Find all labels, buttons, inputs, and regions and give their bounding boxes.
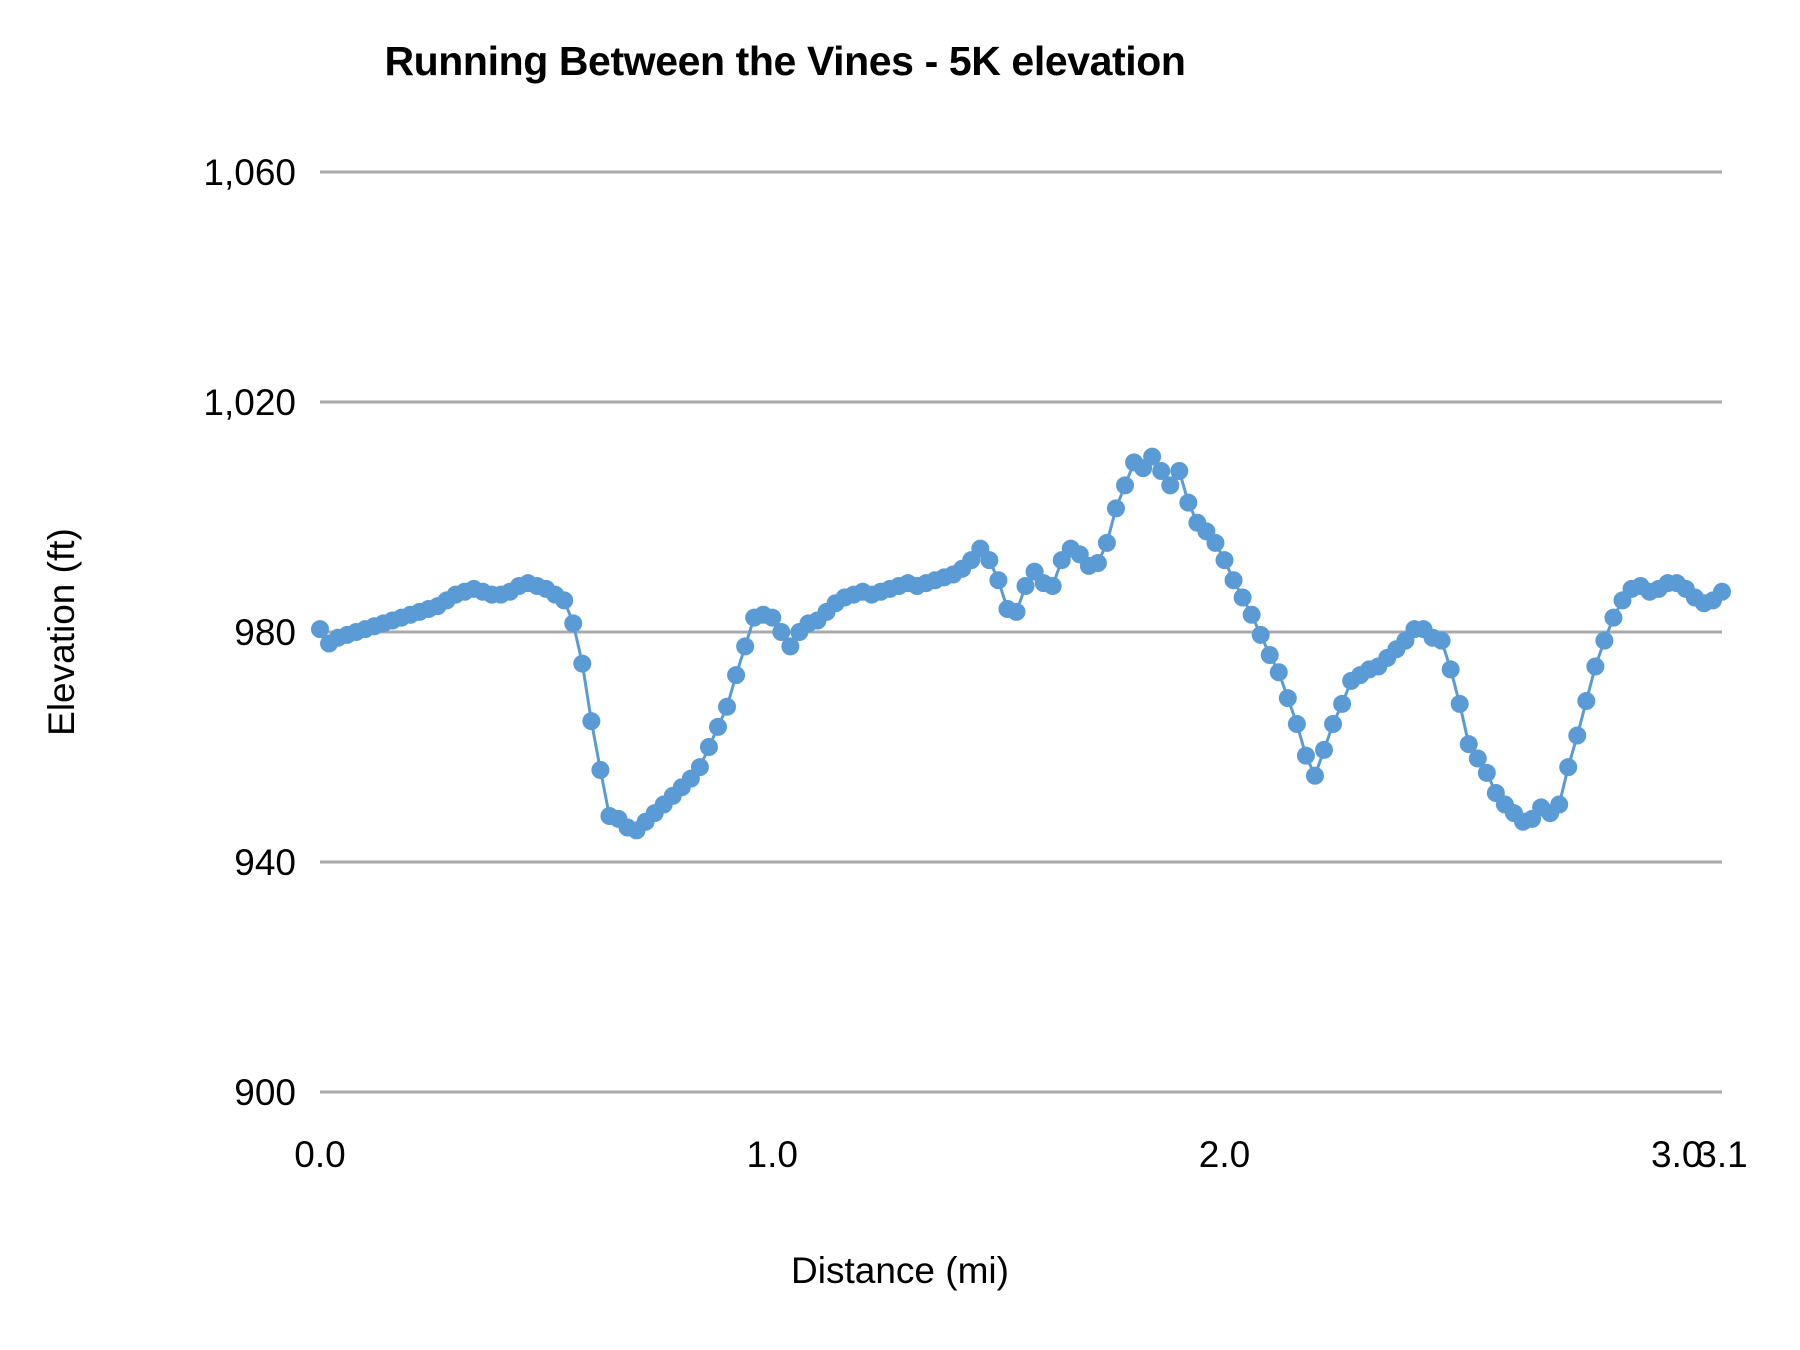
gridlines-group bbox=[320, 172, 1722, 1092]
elevation-series bbox=[311, 448, 1731, 840]
data-point-marker bbox=[1550, 796, 1568, 814]
data-point-marker bbox=[1604, 609, 1622, 627]
data-point-marker bbox=[1098, 534, 1116, 552]
data-point-marker bbox=[1333, 695, 1351, 713]
elevation-markers bbox=[311, 448, 1731, 840]
data-point-marker bbox=[1478, 764, 1496, 782]
data-point-marker bbox=[1116, 476, 1134, 494]
data-point-marker bbox=[727, 666, 745, 684]
data-point-marker bbox=[1288, 715, 1306, 733]
x-axis-tick-label: 3.0 bbox=[1651, 1134, 1702, 1175]
data-point-marker bbox=[1451, 695, 1469, 713]
data-point-marker bbox=[1261, 646, 1279, 664]
data-point-marker bbox=[1170, 462, 1188, 480]
data-point-marker bbox=[1007, 603, 1025, 621]
y-axis-title: Elevation (ft) bbox=[41, 528, 82, 736]
data-point-marker bbox=[1713, 583, 1731, 601]
data-point-marker bbox=[691, 758, 709, 776]
data-point-marker bbox=[564, 614, 582, 632]
elevation-chart: Running Between the Vines - 5K elevation… bbox=[0, 0, 1800, 1350]
data-point-marker bbox=[1324, 715, 1342, 733]
data-point-marker bbox=[736, 637, 754, 655]
data-point-marker bbox=[1586, 658, 1604, 676]
x-axis-tick-label: 0.0 bbox=[294, 1134, 345, 1175]
data-point-marker bbox=[700, 738, 718, 756]
x-axis-tick-label: 3.1 bbox=[1696, 1134, 1747, 1175]
data-point-marker bbox=[1442, 660, 1460, 678]
data-point-marker bbox=[1107, 499, 1125, 517]
y-axis-tick-label: 1,020 bbox=[203, 382, 296, 423]
y-axis-tick-labels: 9009409801,0201,060 bbox=[203, 152, 296, 1113]
y-axis-tick-label: 980 bbox=[234, 612, 296, 653]
data-point-marker bbox=[1279, 689, 1297, 707]
data-point-marker bbox=[1089, 554, 1107, 572]
data-point-marker bbox=[591, 761, 609, 779]
data-point-marker bbox=[1577, 692, 1595, 710]
data-point-marker bbox=[1252, 626, 1270, 644]
elevation-line bbox=[320, 457, 1722, 831]
x-axis-tick-label: 2.0 bbox=[1199, 1134, 1250, 1175]
chart-plot-area: 9009409801,0201,060 0.01.02.03.03.1 Elev… bbox=[0, 0, 1800, 1350]
data-point-marker bbox=[1243, 606, 1261, 624]
data-point-marker bbox=[1315, 741, 1333, 759]
data-point-marker bbox=[555, 591, 573, 609]
y-axis-tick-label: 940 bbox=[234, 842, 296, 883]
data-point-marker bbox=[582, 712, 600, 730]
y-axis-tick-label: 1,060 bbox=[203, 152, 296, 193]
x-axis-tick-labels: 0.01.02.03.03.1 bbox=[294, 1134, 1747, 1175]
y-axis-tick-label: 900 bbox=[234, 1072, 296, 1113]
data-point-marker bbox=[709, 718, 727, 736]
data-point-marker bbox=[573, 655, 591, 673]
data-point-marker bbox=[1433, 632, 1451, 650]
data-point-marker bbox=[1270, 663, 1288, 681]
data-point-marker bbox=[1216, 551, 1234, 569]
data-point-marker bbox=[1206, 534, 1224, 552]
data-point-marker bbox=[1568, 727, 1586, 745]
x-axis-title: Distance (mi) bbox=[791, 1250, 1009, 1291]
data-point-marker bbox=[1234, 589, 1252, 607]
data-point-marker bbox=[718, 698, 736, 716]
data-point-marker bbox=[1306, 767, 1324, 785]
data-point-marker bbox=[1595, 632, 1613, 650]
data-point-marker bbox=[1225, 571, 1243, 589]
data-point-marker bbox=[1559, 758, 1577, 776]
x-axis-tick-label: 1.0 bbox=[747, 1134, 798, 1175]
data-point-marker bbox=[1297, 747, 1315, 765]
data-point-marker bbox=[1179, 494, 1197, 512]
data-point-marker bbox=[1044, 577, 1062, 595]
data-point-marker bbox=[989, 571, 1007, 589]
data-point-marker bbox=[980, 551, 998, 569]
